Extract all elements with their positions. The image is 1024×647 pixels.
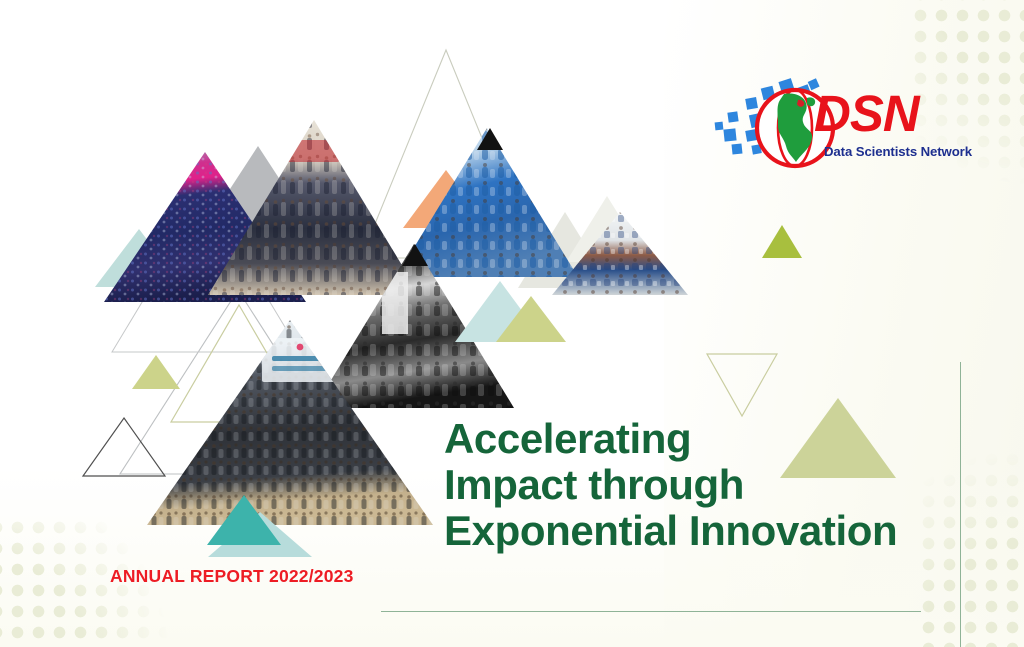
tri-olive-solid-small bbox=[762, 225, 802, 258]
title-line-3: Exponential Innovation bbox=[444, 508, 964, 554]
dsn-wordmark: DSN bbox=[814, 88, 919, 139]
dsn-tagline: Data Scientists Network bbox=[824, 144, 972, 159]
tri-olive-small-left bbox=[132, 355, 180, 389]
horizontal-rule-lower bbox=[381, 611, 921, 612]
page-title: Accelerating Impact through Exponential … bbox=[444, 416, 964, 553]
title-line-1: Accelerating bbox=[444, 416, 964, 462]
title-line-2: Impact through bbox=[444, 462, 964, 508]
tri-olive-inverted-outline bbox=[707, 354, 777, 416]
report-cover-page: DSN Data Scientists Network Accelerating… bbox=[0, 0, 1024, 647]
dsn-logo[interactable]: DSN Data Scientists Network bbox=[706, 72, 956, 186]
annual-report-kicker: ANNUAL REPORT 2022/2023 bbox=[110, 566, 354, 587]
